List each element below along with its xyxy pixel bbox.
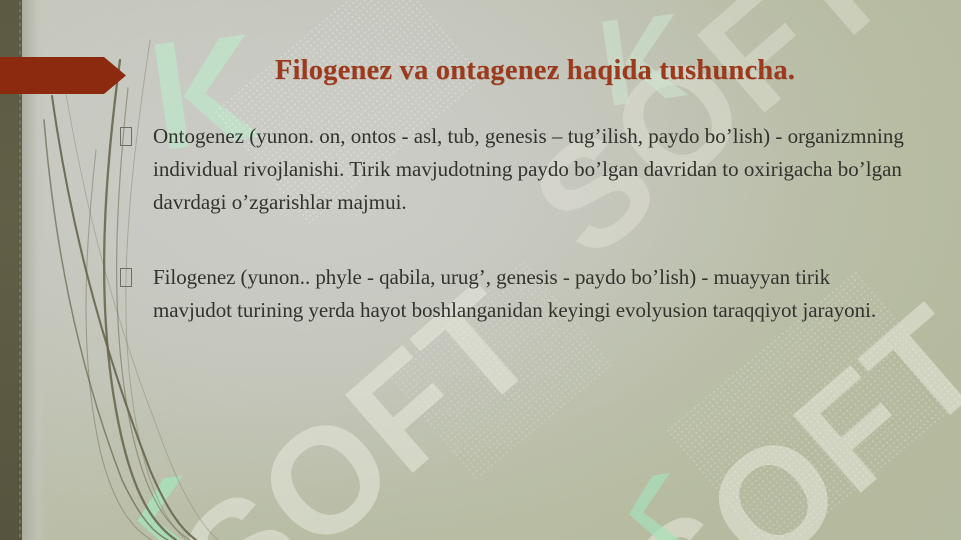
bullet-item-2: Filogenez (yunon.. phyle - qabila, urug’… [120,261,910,327]
hollow-box-bullet-icon [120,127,132,146]
slide-body: Ontogenez (yunon. on, ontos - asl, tub, … [120,120,910,369]
red-arrow-banner [0,57,126,94]
bullet-text-1: Ontogenez (yunon. on, ontos - asl, tub, … [153,120,910,219]
bullet-item-1: Ontogenez (yunon. on, ontos - asl, tub, … [120,120,910,219]
bullet-text-2: Filogenez (yunon.. phyle - qabila, urug’… [153,261,910,327]
presentation-slide: SOFT SOFT SOFT SOFT [0,0,961,540]
page-title: Filogenez va ontagenez haqida tushuncha. [140,55,930,88]
hollow-box-bullet-icon [120,268,132,287]
